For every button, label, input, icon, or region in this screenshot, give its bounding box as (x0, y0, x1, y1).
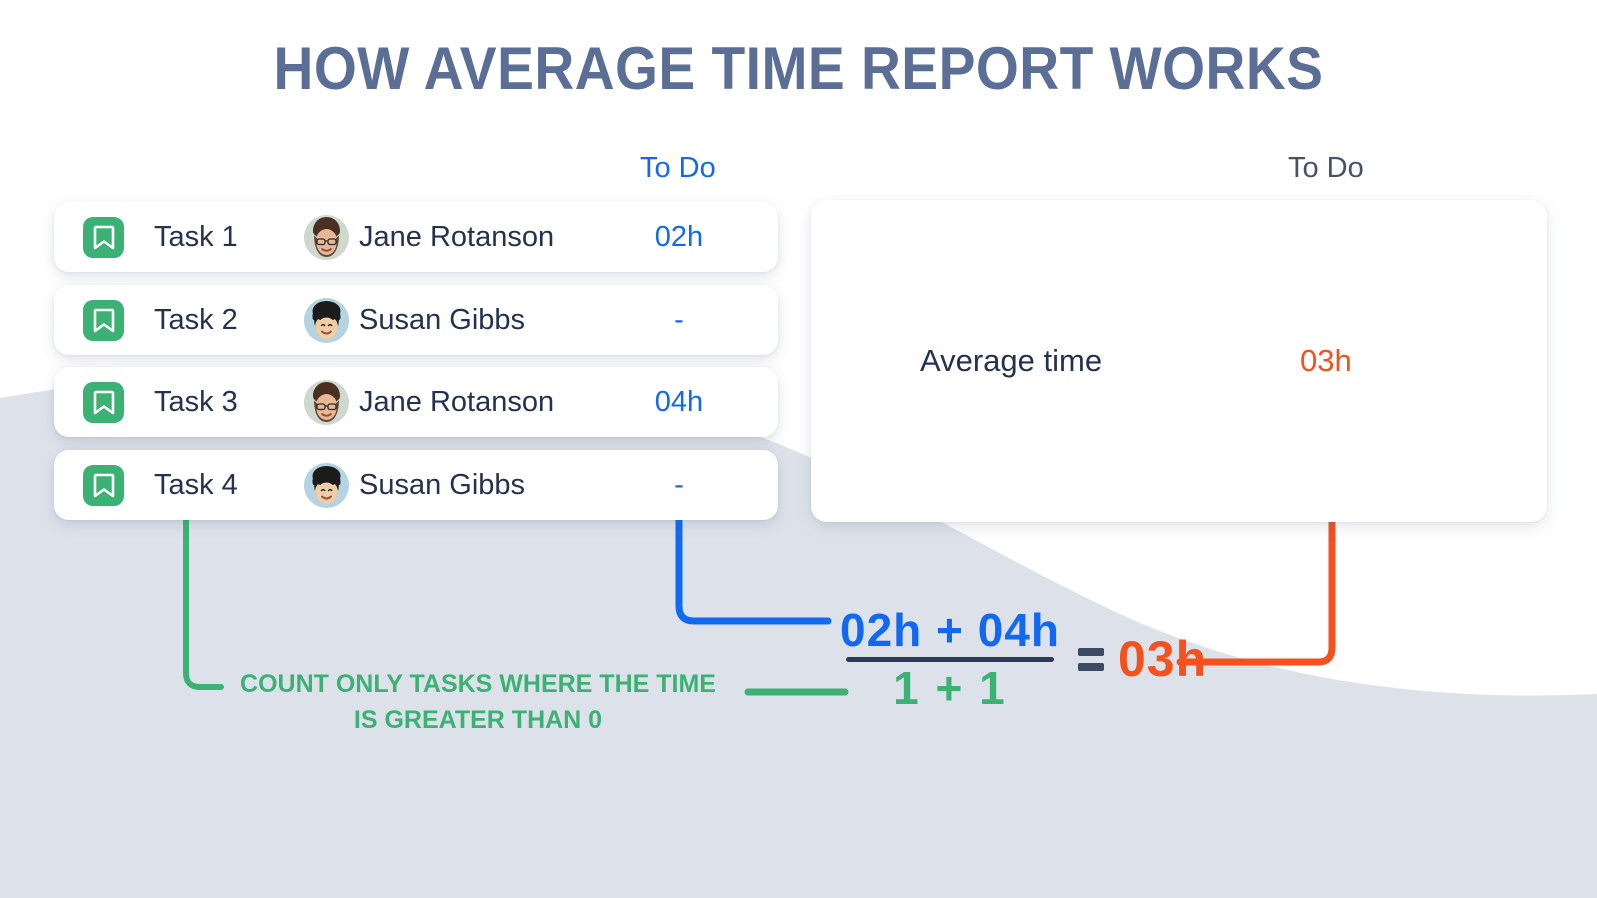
assignee-name: Susan Gibbs (359, 304, 525, 337)
bookmark-icon (83, 217, 124, 258)
task-time: - (624, 469, 734, 502)
avatar (304, 298, 349, 343)
task-time: 02h (624, 221, 734, 254)
bookmark-icon (83, 300, 124, 341)
task-row[interactable]: Task 2 Susan Gibbs - (54, 285, 778, 355)
fraction-numerator: 02h + 04h (840, 606, 1060, 654)
fraction-denominator: 1 + 1 (893, 664, 1007, 712)
column-header-right: To Do (1288, 152, 1364, 185)
blue-connector (679, 520, 828, 621)
assignee-name: Jane Rotanson (359, 386, 554, 419)
page-title: HOW AVERAGE TIME REPORT WORKS (64, 34, 1533, 103)
count-note: COUNT ONLY TASKS WHERE THE TIME IS GREAT… (228, 667, 728, 738)
task-row[interactable]: Task 3 Jane Rotanson 04h (54, 367, 778, 437)
task-time: 04h (624, 386, 734, 419)
formula-result: 03h (1118, 630, 1207, 688)
task-name: Task 4 (154, 469, 238, 502)
average-formula: 02h + 04h 1 + 1 03h (840, 606, 1207, 713)
assignee-name: Susan Gibbs (359, 469, 525, 502)
task-name: Task 2 (154, 304, 238, 337)
bookmark-icon (83, 382, 124, 423)
infographic-canvas: HOW AVERAGE TIME REPORT WORKS To Do To D… (0, 0, 1597, 898)
assignee-name: Jane Rotanson (359, 221, 554, 254)
avatar (304, 463, 349, 508)
fraction: 02h + 04h 1 + 1 (840, 606, 1060, 713)
avatar (304, 380, 349, 425)
task-time: - (624, 304, 734, 337)
green-connector (186, 520, 221, 687)
task-row[interactable]: Task 1 Jane Rotanson 02h (54, 202, 778, 272)
bookmark-icon (83, 465, 124, 506)
equals-icon (1078, 648, 1104, 671)
average-time-value: 03h (1300, 343, 1352, 379)
average-time-label: Average time (920, 343, 1102, 379)
task-row[interactable]: Task 4 Susan Gibbs - (54, 450, 778, 520)
avatar (304, 215, 349, 260)
task-name: Task 1 (154, 221, 238, 254)
column-header-left: To Do (640, 152, 716, 185)
task-name: Task 3 (154, 386, 238, 419)
